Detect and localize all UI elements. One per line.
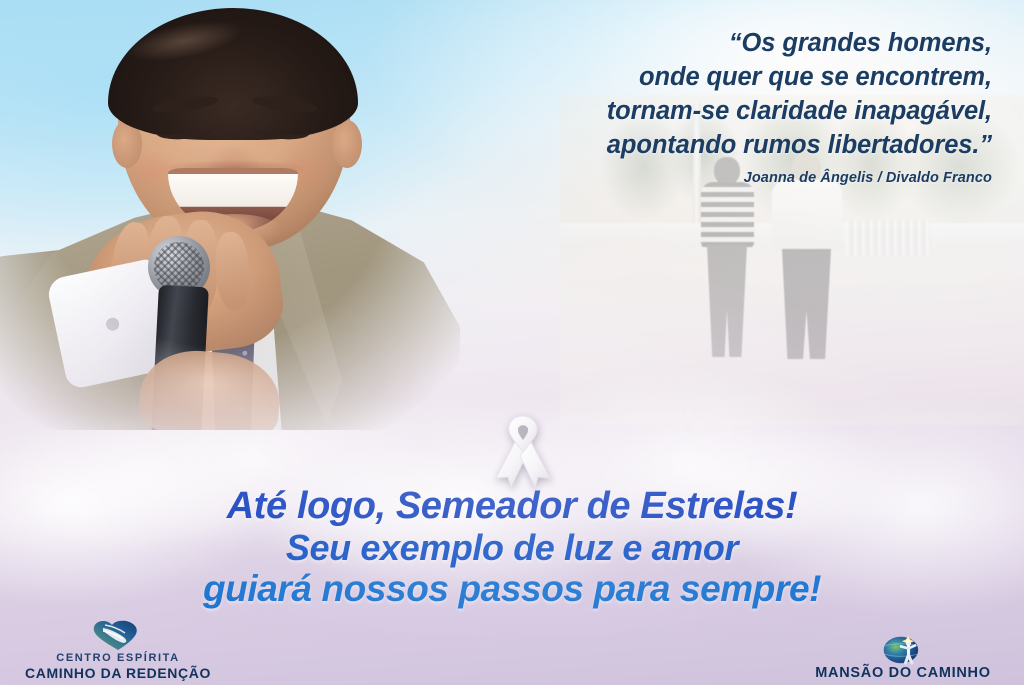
ear-right — [332, 120, 362, 168]
globe-figure-icon — [788, 631, 1018, 665]
scene-gate — [846, 221, 930, 255]
quote-line-1: “Os grandes homens, — [430, 26, 992, 60]
headline-line-3: guiará nossos passos para sempre! — [0, 568, 1024, 609]
logo-mansao-do-caminho: MANSÃO DO CAMINHO — [788, 631, 1018, 681]
quote-line-4: apontando rumos libertadores.” — [430, 128, 992, 162]
logo-left-line-2: CAMINHO DA REDENÇÃO — [8, 665, 228, 681]
quote-attribution: Joanna de Ângelis / Divaldo Franco — [430, 170, 992, 186]
hair — [108, 8, 358, 140]
portrait-photo — [0, 0, 470, 430]
tribute-headline: Até logo, Semeador de Estrelas! Seu exem… — [0, 486, 1024, 609]
logo-right-line-2: MANSÃO DO CAMINHO — [788, 665, 1018, 681]
quote-line-2: onde quer que se encontrem, — [430, 60, 992, 94]
quote-text: “Os grandes homens, onde quer que se enc… — [430, 26, 992, 162]
headline-line-1: Até logo, Semeador de Estrelas! — [0, 486, 1024, 527]
logo-left-line-1: CENTRO ESPÍRITA — [8, 652, 228, 665]
quote-line-3: tornam-se claridade inapagável, — [430, 94, 992, 128]
heart-hands-icon — [8, 618, 228, 652]
mourning-ribbon-icon — [488, 412, 558, 488]
memorial-poster: “Os grandes homens, onde quer que se enc… — [0, 0, 1024, 685]
logo-centro-espirita: CENTRO ESPÍRITA CAMINHO DA REDENÇÃO — [8, 618, 228, 681]
headline-line-2: Seu exemplo de luz e amor — [0, 527, 1024, 568]
